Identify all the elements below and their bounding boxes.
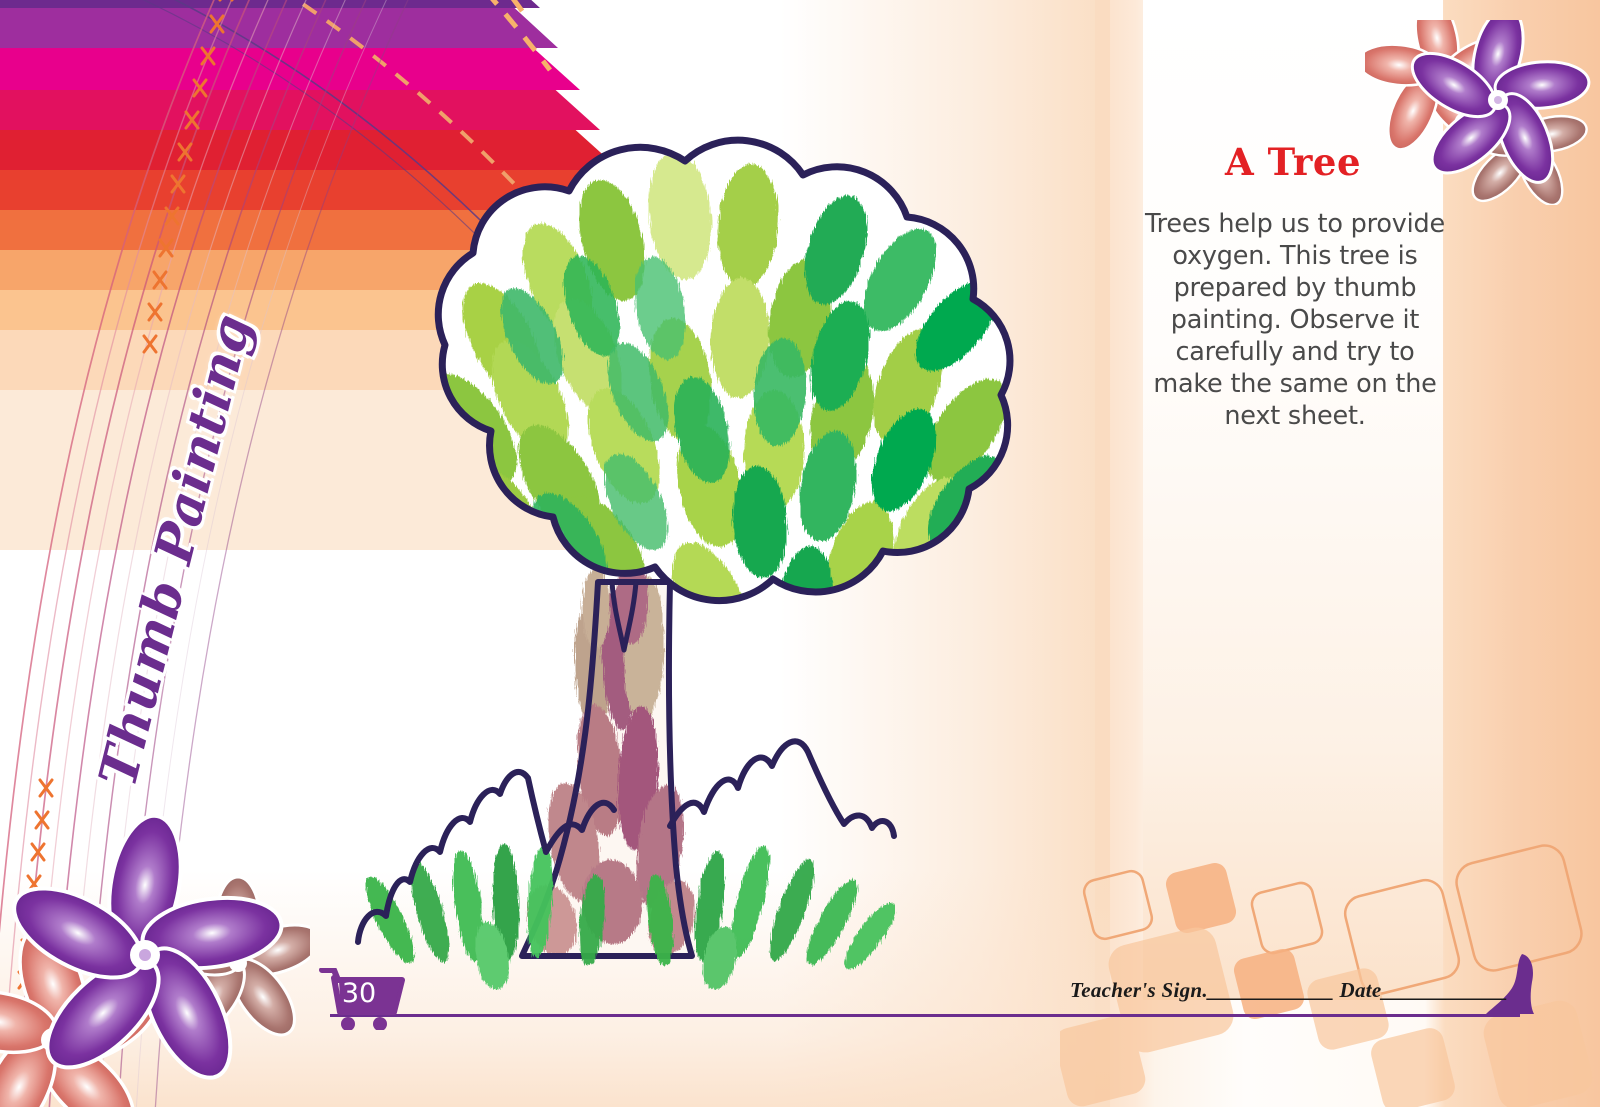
teacher-signature-line: Teacher's Sign.____________ Date________… <box>1070 978 1508 1003</box>
page-number-text: 30 <box>330 978 388 1009</box>
lesson-body-text: Trees help us to provide oxygen. This tr… <box>1140 208 1450 432</box>
lesson-title: A Tree <box>1143 140 1443 184</box>
thumb-painted-tree-illustration <box>240 130 1070 990</box>
date-blank[interactable]: ____________ <box>1382 978 1508 1002</box>
teacher-sign-blank[interactable]: ____________ <box>1208 978 1334 1002</box>
teacher-sign-label: Teacher's Sign. <box>1070 978 1208 1002</box>
activity-book-page: Thumb Painting <box>0 0 1600 1107</box>
date-label: Date <box>1339 978 1381 1002</box>
footer-divider-line <box>330 1014 1520 1017</box>
